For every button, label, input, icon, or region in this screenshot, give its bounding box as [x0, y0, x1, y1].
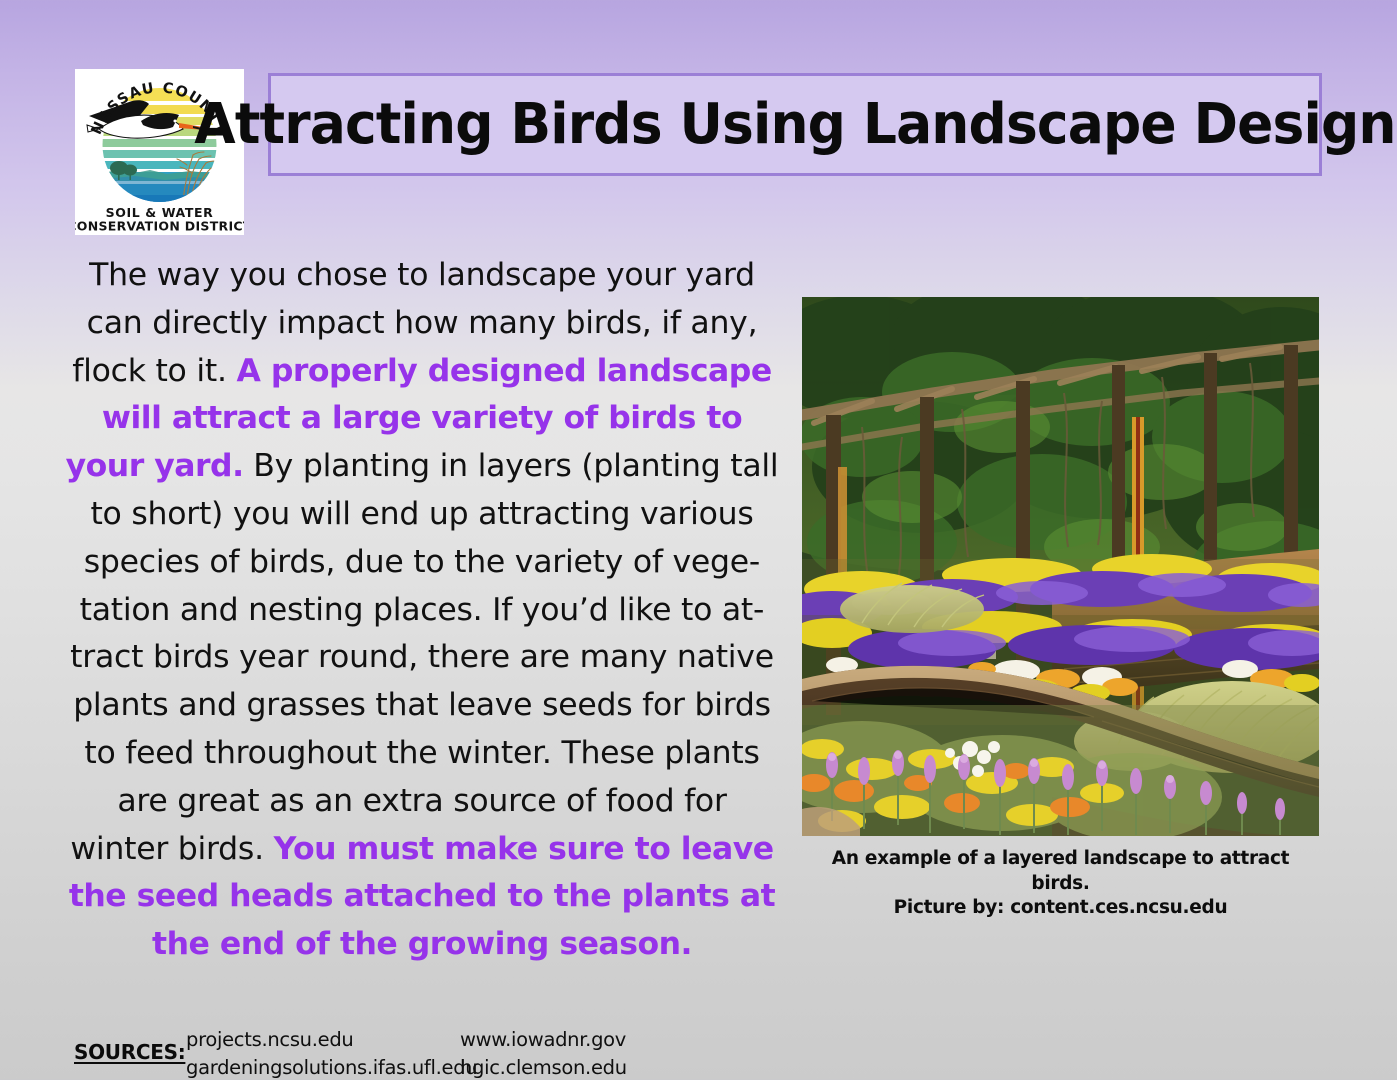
- article-paragraph: The way you chose to landscape your yard…: [64, 252, 780, 969]
- title-banner: Attracting Birds Using Landscape Design: [268, 73, 1322, 176]
- text-run-2: By planting in layers (planting tall to …: [70, 448, 778, 866]
- caption-credit: Picture by: content.ces.ncsu.edu: [802, 896, 1319, 921]
- page-title: Attracting Birds Using Landscape Design: [194, 97, 1395, 153]
- source-link[interactable]: projects.ncsu.edu: [186, 1026, 460, 1054]
- article-body: The way you chose to landscape your yard…: [64, 252, 780, 969]
- caption-line-2: birds.: [802, 872, 1319, 897]
- sources-column-1: projects.ncsu.edu gardeningsolutions.ifa…: [186, 1026, 460, 1080]
- source-link[interactable]: gardeningsolutions.ifas.ufl.edu: [186, 1054, 460, 1080]
- source-link[interactable]: www.iowadnr.gov: [460, 1026, 690, 1054]
- figure-caption: An example of a layered landscape to att…: [802, 847, 1319, 921]
- garden-photo-illustration: [802, 297, 1319, 836]
- poster-header: NASSAU COUNTY SOIL & WATER CONSERVATION …: [0, 0, 1397, 250]
- sources-column-2: www.iowadnr.gov hgic.clemson.edu: [460, 1026, 690, 1080]
- layered-landscape-garden-photo: [802, 297, 1319, 836]
- figure: An example of a layered landscape to att…: [802, 297, 1319, 921]
- sources-label: SOURCES:: [74, 1026, 186, 1064]
- source-link[interactable]: hgic.clemson.edu: [460, 1054, 690, 1080]
- caption-line-1: An example of a layered landscape to att…: [802, 847, 1319, 872]
- sources-section: SOURCES: projects.ncsu.edu gardeningsolu…: [74, 1026, 690, 1080]
- logo-line-2: CONSERVATION DISTRICT: [75, 219, 244, 234]
